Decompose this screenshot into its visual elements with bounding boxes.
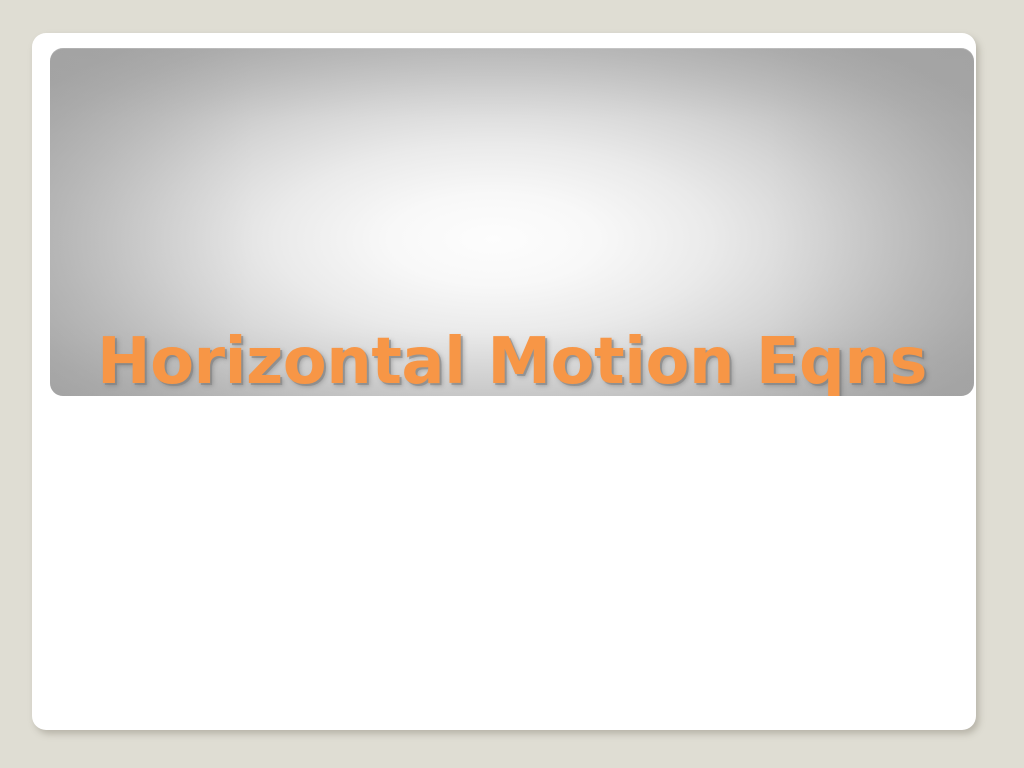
slide-card[interactable]: Horizontal Motion Eqns xyxy=(32,33,976,730)
title-panel[interactable]: Horizontal Motion Eqns xyxy=(50,48,974,396)
slide-content-area[interactable] xyxy=(50,411,974,711)
slide-stage: Horizontal Motion Eqns xyxy=(0,0,1024,768)
slide-title: Horizontal Motion Eqns xyxy=(50,330,974,394)
